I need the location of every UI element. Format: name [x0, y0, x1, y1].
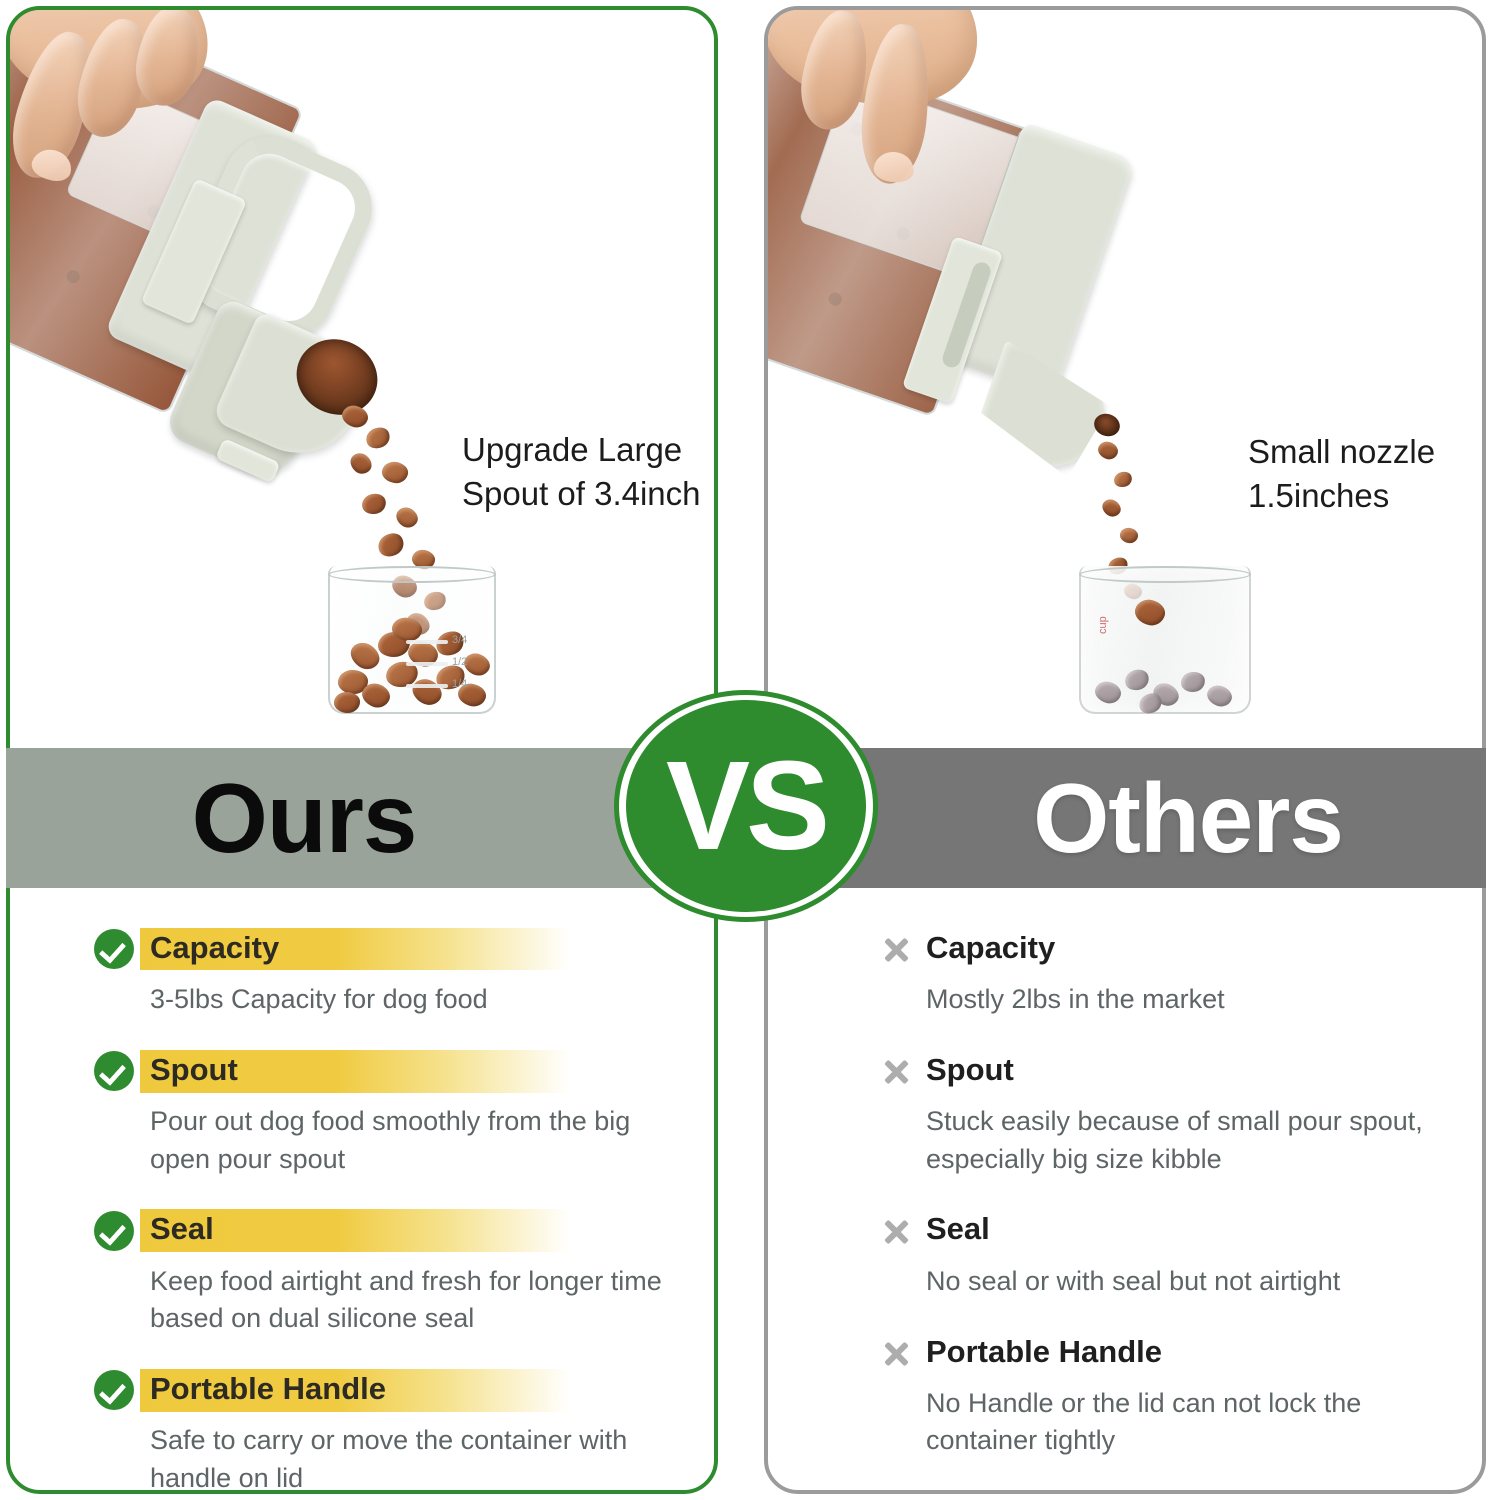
feature-title: Portable Handle	[140, 1369, 570, 1412]
cup-mark-1-4: 1/4	[452, 678, 467, 690]
feature-desc: Stuck easily because of small pour spout…	[876, 1103, 1436, 1178]
feature-item: Seal Keep food airtight and fresh for lo…	[94, 1208, 694, 1338]
cup-mark-1-2: 1/2	[452, 656, 467, 668]
vs-label: VS	[614, 690, 878, 922]
check-circle-icon	[94, 1211, 140, 1251]
check-circle-icon	[94, 1051, 140, 1091]
feature-desc: Pour out dog food smoothly from the big …	[94, 1103, 694, 1178]
callout-ours-line1: Upgrade Large	[462, 428, 701, 472]
callout-others-line1: Small nozzle	[1248, 430, 1435, 474]
callout-others-line2: 1.5inches	[1248, 474, 1435, 518]
feature-title: Capacity	[140, 928, 570, 971]
feature-desc: 3-5lbs Capacity for dog food	[94, 981, 694, 1018]
feature-title: Spout	[140, 1050, 570, 1093]
feature-list-others: Capacity Mostly 2lbs in the market Spout…	[876, 926, 1436, 1490]
feature-item: Seal No seal or with seal but not airtig…	[876, 1208, 1436, 1300]
photo-ours: 3/4 1/2 1/4 Upgrade Large Spout of 3.4in…	[10, 10, 714, 752]
feature-title: Capacity	[922, 928, 1077, 971]
feature-desc: No seal or with seal but not airtight	[876, 1263, 1436, 1300]
feature-desc: Safe to carry or move the container with…	[94, 1422, 694, 1494]
feature-list-ours: Capacity 3-5lbs Capacity for dog food Sp…	[94, 926, 694, 1494]
feature-desc: Mostly 2lbs in the market	[876, 981, 1436, 1018]
feature-item: Capacity 3-5lbs Capacity for dog food	[94, 926, 694, 1018]
feature-title: Spout	[922, 1050, 1036, 1093]
feature-title: Seal	[922, 1209, 1012, 1252]
x-icon	[876, 929, 922, 969]
feature-desc: Keep food airtight and fresh for longer …	[94, 1263, 694, 1338]
vs-badge: VS	[614, 690, 878, 922]
feature-item: Spout Stuck easily because of small pour…	[876, 1048, 1436, 1178]
feature-item: Portable Handle Safe to carry or move th…	[94, 1367, 694, 1494]
check-circle-icon	[94, 1370, 140, 1410]
x-icon	[876, 1211, 922, 1251]
callout-ours-line2: Spout of 3.4inch	[462, 472, 701, 516]
cup-red-label: cup	[1097, 616, 1109, 634]
x-icon	[876, 1051, 922, 1091]
callout-others: Small nozzle 1.5inches	[1248, 430, 1435, 518]
feature-title: Seal	[140, 1209, 570, 1252]
measuring-cup-others: cup	[1079, 566, 1251, 714]
check-circle-icon	[94, 929, 140, 969]
feature-item: Capacity Mostly 2lbs in the market	[876, 926, 1436, 1018]
photo-others: cup Small nozzle 1.5inches	[768, 10, 1482, 752]
x-icon	[876, 1333, 922, 1373]
measuring-cup-ours: 3/4 1/2 1/4	[328, 566, 496, 714]
feature-desc: No Handle or the lid can not lock the co…	[876, 1385, 1436, 1460]
feature-item: Spout Pour out dog food smoothly from th…	[94, 1048, 694, 1178]
callout-ours: Upgrade Large Spout of 3.4inch	[462, 428, 701, 516]
feature-item: Portable Handle No Handle or the lid can…	[876, 1330, 1436, 1460]
feature-title: Portable Handle	[922, 1332, 1184, 1375]
cup-mark-3-4: 3/4	[452, 634, 467, 646]
